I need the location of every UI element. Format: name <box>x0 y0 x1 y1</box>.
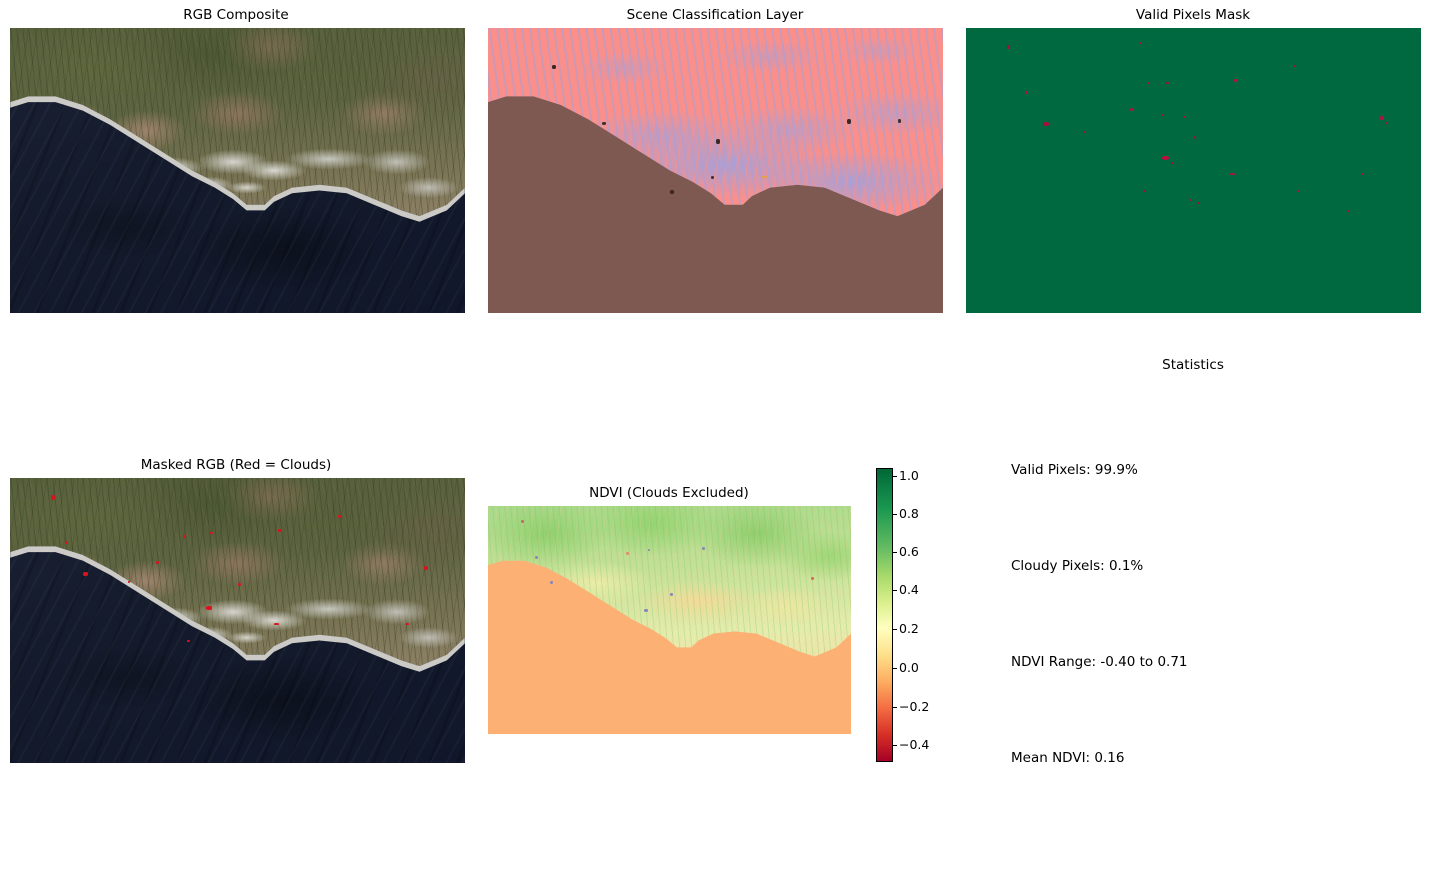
ndvi-masked-pixel <box>521 520 524 523</box>
stat-ndvi-range: NDVI Range: -0.40 to 0.71 <box>1011 656 1188 670</box>
invalid-pixel-speck <box>1198 202 1200 204</box>
invalid-pixel-speck <box>1148 82 1150 84</box>
colorbar-tick <box>893 552 897 553</box>
invalid-pixel-speck <box>1234 79 1238 82</box>
ndvi-masked-pixel <box>626 552 629 555</box>
colorbar-tick-label: 0.0 <box>899 662 919 675</box>
panel-title-ndvi: NDVI (Clouds Excluded) <box>479 487 859 501</box>
invalid-pixel-speck <box>1043 122 1049 126</box>
invalid-pixel-speck <box>1171 162 1174 164</box>
invalid-pixel-speck <box>1385 122 1387 124</box>
scl-shadow-speck <box>711 176 714 179</box>
invalid-pixel-speck <box>1130 108 1133 111</box>
invalid-pixel-speck <box>1162 114 1164 116</box>
scl-shadow-speck <box>602 122 606 125</box>
rgb-composite-image <box>10 28 465 313</box>
colorbar-tick-label: 0.6 <box>899 546 919 559</box>
ndvi-colorbar <box>876 468 893 762</box>
colorbar-tick <box>893 668 897 669</box>
invalid-pixel-speck <box>1348 210 1350 212</box>
invalid-pixel-speck <box>1084 131 1086 133</box>
invalid-pixel-speck <box>1025 91 1028 94</box>
invalid-pixel-speck <box>1143 190 1146 192</box>
ndvi-masked-pixel <box>550 581 553 584</box>
invalid-pixel-speck <box>1298 190 1300 192</box>
colorbar-tick <box>893 629 897 630</box>
cloud-pixel-marker <box>156 561 159 564</box>
ndvi-masked-pixel <box>702 547 705 550</box>
invalid-pixel-speck <box>1230 173 1235 175</box>
scene-classification-image <box>488 28 943 313</box>
cloud-pixel-marker <box>338 515 341 518</box>
statistics-panel-title: Statistics <box>957 359 1429 373</box>
cloud-pixel-marker <box>65 541 68 544</box>
colorbar-tick-label: 0.4 <box>899 584 919 597</box>
colorbar-tick-label: 0.2 <box>899 623 919 636</box>
colorbar-tick-label: 1.0 <box>899 470 919 483</box>
ndvi-masked-pixel <box>670 593 673 596</box>
scl-shadow-speck <box>898 119 901 123</box>
invalid-pixel-speck <box>1189 199 1191 201</box>
colorbar-tick <box>893 514 897 515</box>
ndvi-image <box>488 506 851 734</box>
colorbar-tick-label: −0.2 <box>899 701 929 714</box>
invalid-pixel-speck <box>1194 136 1196 139</box>
colorbar-tick <box>893 590 897 591</box>
cloud-pixel-marker <box>83 572 88 576</box>
colorbar-tick <box>893 707 897 708</box>
colorbar-tick-label: 0.8 <box>899 508 919 521</box>
ndvi-masked-pixel <box>644 609 648 612</box>
stat-mean-ndvi: Mean NDVI: 0.16 <box>1011 752 1124 766</box>
invalid-pixel-speck <box>1184 116 1186 118</box>
invalid-pixel-speck <box>1294 65 1296 67</box>
colorbar-tick <box>893 476 897 477</box>
cloud-pixel-marker <box>183 535 186 538</box>
invalid-pixel-speck <box>1007 45 1010 49</box>
scl-shadow-speck <box>552 65 556 69</box>
invalid-pixel-speck <box>1166 82 1169 84</box>
ndvi-masked-pixel <box>811 577 814 580</box>
cloud-pixel-marker <box>51 495 55 500</box>
stat-cloudy-pixels: Cloudy Pixels: 0.1% <box>1011 560 1143 574</box>
scl-shadow-speck <box>716 139 720 144</box>
panel-title-masked-rgb: Masked RGB (Red = Clouds) <box>0 459 472 473</box>
invalid-pixel-speck <box>1362 173 1364 175</box>
stat-valid-pixels: Valid Pixels: 99.9% <box>1011 464 1138 478</box>
panel-title-scene-classification: Scene Classification Layer <box>479 9 951 23</box>
invalid-pixel-speck <box>1139 42 1141 44</box>
panel-title-valid-pixels-mask: Valid Pixels Mask <box>957 9 1429 23</box>
cloud-pixel-marker <box>206 606 212 610</box>
panel-title-rgb-composite: RGB Composite <box>0 9 472 23</box>
valid-pixels-mask-image <box>966 28 1421 313</box>
colorbar-tick <box>893 745 897 746</box>
masked-rgb-image <box>10 478 465 763</box>
invalid-pixel-speck <box>1380 116 1384 120</box>
colorbar-tick-label: −0.4 <box>899 739 929 752</box>
invalid-pixel-speck <box>1162 156 1169 160</box>
